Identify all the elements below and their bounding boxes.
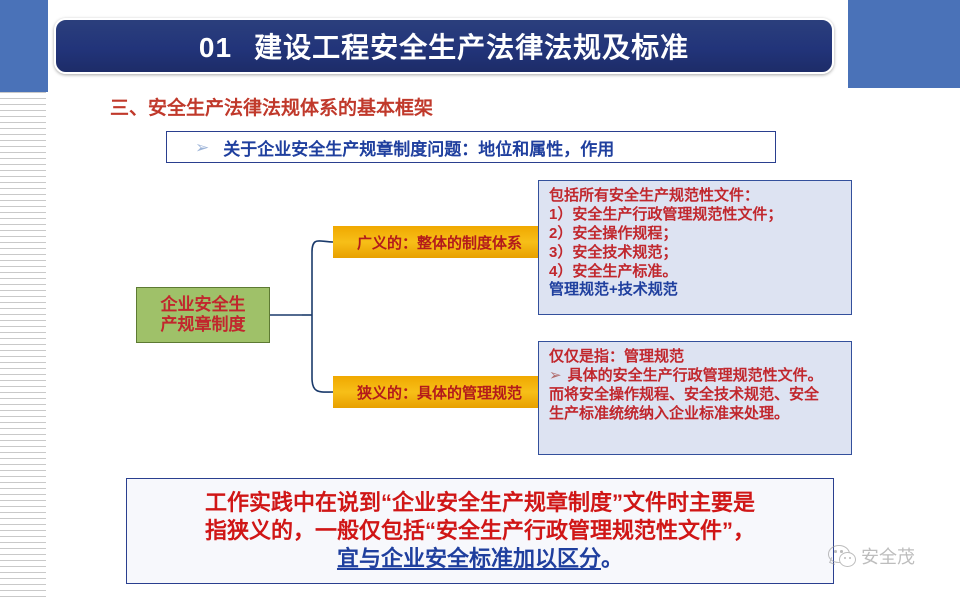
- conclusion-line-1: 工作实践中在说到“企业安全生产规章制度”文件时主要是: [205, 489, 755, 517]
- arrow-bullet-icon: ➢: [195, 139, 209, 156]
- info-broad-line-4: 4）安全生产标准。: [549, 263, 843, 282]
- info-narrow-line-1: 具体的安全生产行政管理规范性文件。: [568, 367, 823, 384]
- section-heading: 三、安全生产法律法规体系的基本框架: [110, 93, 433, 120]
- wechat-bubble-small: [839, 552, 856, 567]
- info-narrow-line-2: 而将安全操作规程、安全技术规范、安全: [549, 386, 843, 405]
- info-narrow-line-1-row: ➢具体的安全生产行政管理规范性文件。: [549, 367, 843, 386]
- page-title: 01建设工程安全生产法律法规及标准: [199, 26, 689, 66]
- info-narrow-line-3: 生产标准统统纳入企业标准来处理。: [549, 405, 843, 424]
- diagram-root-node: 企业安全生 产规章制度: [136, 287, 270, 343]
- subtitle-label: 关于企业安全生产规章制度问题：地位和属性，作用: [223, 135, 614, 160]
- info-broad-line-3: 3）安全技术规范；: [549, 244, 843, 263]
- left-blue-block: [0, 0, 48, 92]
- conclusion-box: 工作实践中在说到“企业安全生产规章制度”文件时主要是 指狭义的，一般仅包括“安全…: [126, 478, 834, 584]
- watermark: 安全茂: [828, 543, 915, 569]
- arrow-bullet-small-icon: ➢: [549, 367, 562, 384]
- top-band-right-block: [848, 0, 960, 88]
- diagram-branch-broad-label: 广义的：整体的制度体系: [333, 226, 546, 258]
- watermark-label: 安全茂: [861, 543, 915, 569]
- info-broad-line-5: 管理规范+技术规范: [549, 281, 843, 300]
- root-node-line1: 企业安全生: [161, 295, 246, 315]
- info-box-broad: 包括所有安全生产规范性文件： 1）安全生产行政管理规范性文件； 2）安全操作规程…: [538, 180, 852, 315]
- root-node-line2: 产规章制度: [161, 315, 246, 335]
- slide-canvas: 01建设工程安全生产法律法规及标准 三、安全生产法律法规体系的基本框架 ➢ 关于…: [0, 0, 960, 601]
- info-narrow-line-0: 仅仅是指：管理规范: [549, 348, 843, 367]
- conclusion-line-3: 宜与企业安全标准加以区分。: [337, 545, 623, 573]
- info-broad-line-0: 包括所有安全生产规范性文件：: [549, 187, 843, 206]
- wechat-bubble-tail: [829, 557, 837, 565]
- title-label: 建设工程安全生产法律法规及标准: [254, 32, 689, 63]
- diagram-branch-narrow-label: 狭义的：具体的管理规范: [333, 376, 546, 408]
- info-broad-line-1: 1）安全生产行政管理规范性文件；: [549, 206, 843, 225]
- conclusion-line-2: 指狭义的，一般仅包括“安全生产行政管理规范性文件”，: [205, 517, 755, 545]
- conclusion-underlined-text: 宜与企业安全标准加以区分: [337, 546, 601, 571]
- slide-title-bar: 01建设工程安全生产法律法规及标准: [54, 18, 834, 74]
- subtitle-box: ➢ 关于企业安全生产规章制度问题：地位和属性，作用: [166, 131, 776, 163]
- left-stripe-decoration: [0, 92, 46, 601]
- conclusion-period: 。: [601, 546, 623, 571]
- wechat-icon: [828, 545, 854, 567]
- info-broad-line-2: 2）安全操作规程；: [549, 225, 843, 244]
- info-box-narrow: 仅仅是指：管理规范 ➢具体的安全生产行政管理规范性文件。 而将安全操作规程、安全…: [538, 341, 852, 455]
- title-number: 01: [199, 32, 232, 63]
